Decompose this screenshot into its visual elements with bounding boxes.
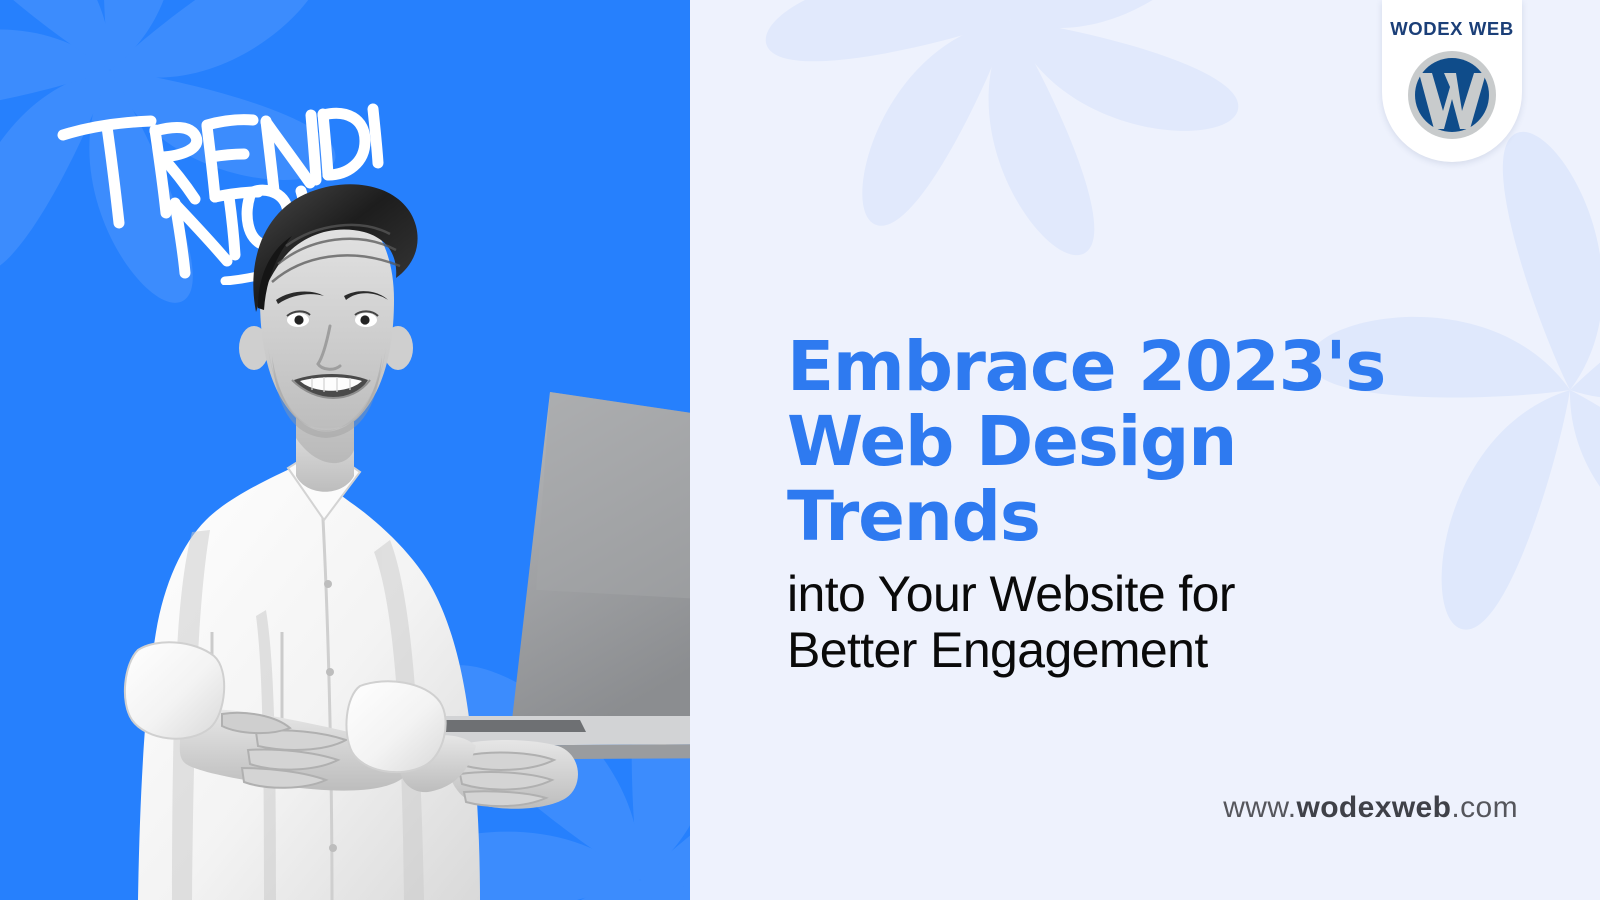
logo-brand-name: WODEX WEB (1382, 0, 1522, 40)
headline-line-2: Web Design (787, 405, 1547, 480)
url-prefix: www. (1223, 791, 1296, 824)
left-blue-panel (0, 0, 690, 900)
website-url[interactable]: www.wodexweb.com (1223, 791, 1518, 825)
url-tld: .com (1451, 791, 1518, 824)
promo-banner: WODEX WEB Embrace 2023's Web Design Tren… (0, 0, 1600, 900)
subhead-line-1: into Your Website for (787, 566, 1547, 622)
url-domain: wodexweb (1296, 791, 1451, 824)
page-subtitle: into Your Website for Better Engagement (787, 566, 1547, 678)
headline-line-1: Embrace 2023's (787, 330, 1547, 405)
page-title: Embrace 2023's Web Design Trends (787, 330, 1547, 556)
headline-line-3: Trends (787, 480, 1547, 555)
subhead-line-2: Better Engagement (787, 622, 1547, 678)
brand-logo[interactable]: WODEX WEB (1382, 0, 1522, 141)
flower-decoration-top-right (750, 0, 1270, 280)
person-with-laptop-photo (60, 180, 690, 900)
wodex-web-w-mark-icon (1406, 49, 1498, 141)
headline-block: Embrace 2023's Web Design Trends into Yo… (787, 330, 1547, 678)
